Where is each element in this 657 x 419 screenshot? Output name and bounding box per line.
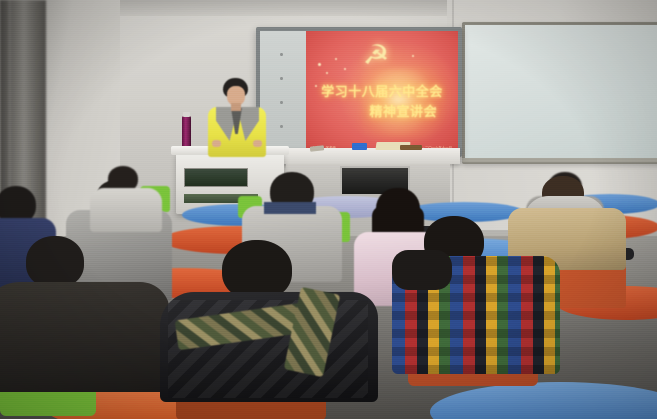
- projection-screen: ☭ 学习十八届六中全会 精神宣讲会 主讲人：张老师 党委宣传部 · 二〇一六年十…: [256, 27, 462, 157]
- purple-thermos-flask: [182, 116, 191, 149]
- slide-headline-line1: 学习十八届六中全会: [306, 81, 458, 100]
- desk-item-box: [400, 145, 422, 150]
- hammer-and-sickle-icon: ☭: [362, 42, 389, 69]
- presenter: [206, 78, 268, 158]
- classroom-photo: ☭ 学习十八届六中全会 精神宣讲会 主讲人：张老师 党委宣传部 · 二〇一六年十…: [0, 0, 657, 419]
- desk-item-blue-folder: [352, 143, 367, 150]
- whiteboard-marker-tray: [462, 158, 657, 162]
- instructor-desk-top: [276, 148, 460, 164]
- projected-slide: ☭ 学习十八届六中全会 精神宣讲会 主讲人：张老师 党委宣传部 · 二〇一六年十…: [306, 31, 458, 153]
- whiteboard: [462, 22, 657, 164]
- slide-headline-line2: 精神宣讲会: [306, 101, 458, 120]
